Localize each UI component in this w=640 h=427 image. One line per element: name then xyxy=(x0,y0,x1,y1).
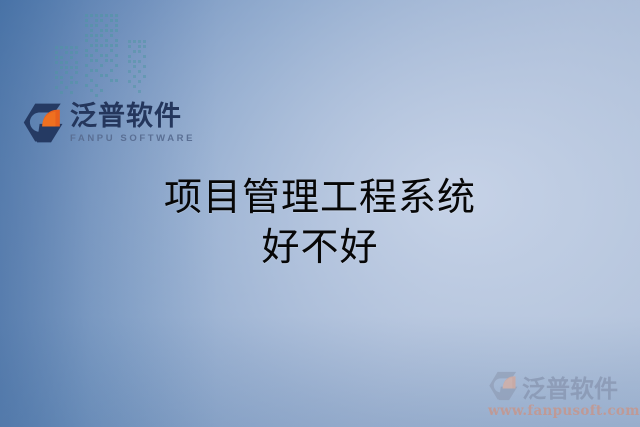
brand-name-cn: 泛普软件 xyxy=(70,103,195,131)
watermark-logo-row: 泛普软件 xyxy=(488,370,634,402)
watermark-name-cn: 泛普软件 xyxy=(522,369,618,404)
page-title-line-1: 项目管理工程系统 xyxy=(0,172,640,222)
watermark: 泛普软件 www.fanpusoft.com xyxy=(488,370,634,419)
fanpu-logo-mark-watermark-icon xyxy=(488,370,520,402)
pixel-skyline-icon xyxy=(52,0,172,100)
poster-canvas: 泛普软件 FANPU SOFTWARE 项目管理工程系统 好不好 泛普软件 ww… xyxy=(0,0,640,427)
page-title-line-2: 好不好 xyxy=(0,222,640,272)
page-title: 项目管理工程系统 好不好 xyxy=(0,172,640,272)
watermark-url: www.fanpusoft.com xyxy=(488,403,634,419)
fanpu-logo-mark-icon xyxy=(22,101,66,145)
brand-name-en: FANPU SOFTWARE xyxy=(70,134,195,144)
brand-text: 泛普软件 FANPU SOFTWARE xyxy=(70,103,195,144)
brand-logo: 泛普软件 FANPU SOFTWARE xyxy=(22,98,195,148)
